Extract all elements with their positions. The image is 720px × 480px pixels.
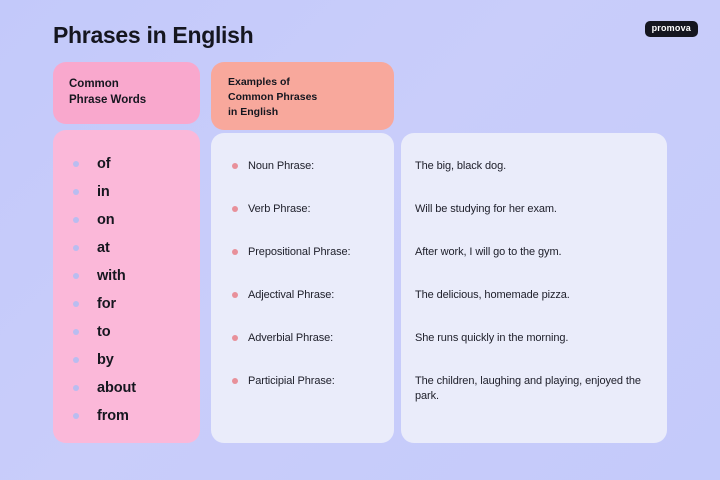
bullet-dot-icon bbox=[73, 245, 79, 251]
list-item: from bbox=[53, 402, 200, 430]
phrase-word-label: with bbox=[97, 268, 126, 284]
phrase-example-text: She runs quickly in the morning. bbox=[415, 331, 655, 346]
examples-of-common-phrases-header-card: Examples of Common Phrases in English bbox=[211, 62, 394, 130]
phrase-word-label: for bbox=[97, 296, 116, 312]
phrase-types-list-card: Noun Phrase: Verb Phrase: Prepositional … bbox=[211, 133, 394, 443]
phrase-word-label: of bbox=[97, 156, 111, 172]
list-item: with bbox=[53, 262, 200, 290]
phrase-type-label: Adverbial Phrase: bbox=[248, 331, 333, 345]
bullet-dot-icon bbox=[232, 249, 238, 255]
poster-canvas: Phrases in English promova Common Phrase… bbox=[0, 0, 720, 480]
list-item: The delicious, homemade pizza. bbox=[401, 288, 667, 331]
common-phrase-words-list-card: of in on at with for to by bbox=[53, 130, 200, 443]
bullet-dot-icon bbox=[232, 292, 238, 298]
list-item: in bbox=[53, 178, 200, 206]
list-item: on bbox=[53, 206, 200, 234]
bullet-dot-icon bbox=[73, 301, 79, 307]
phrase-type-label: Participial Phrase: bbox=[248, 374, 335, 388]
bullet-dot-icon bbox=[73, 273, 79, 279]
list-item: The children, laughing and playing, enjo… bbox=[401, 374, 667, 417]
phrase-word-label: by bbox=[97, 352, 114, 368]
list-item: Adjectival Phrase: bbox=[211, 288, 394, 331]
phrase-type-label: Verb Phrase: bbox=[248, 202, 310, 216]
phrase-word-label: on bbox=[97, 212, 115, 228]
bullet-dot-icon bbox=[73, 385, 79, 391]
bullet-dot-icon bbox=[73, 217, 79, 223]
bullet-dot-icon bbox=[73, 189, 79, 195]
phrase-word-label: to bbox=[97, 324, 111, 340]
phrase-type-label: Adjectival Phrase: bbox=[248, 288, 334, 302]
list-item: She runs quickly in the morning. bbox=[401, 331, 667, 374]
list-item: to bbox=[53, 318, 200, 346]
list-item: at bbox=[53, 234, 200, 262]
list-item: Noun Phrase: bbox=[211, 159, 394, 202]
list-item: Will be studying for her exam. bbox=[401, 202, 667, 245]
list-item: Verb Phrase: bbox=[211, 202, 394, 245]
bullet-dot-icon bbox=[232, 163, 238, 169]
phrase-type-label: Noun Phrase: bbox=[248, 159, 314, 173]
bullet-dot-icon bbox=[73, 329, 79, 335]
bullet-dot-icon bbox=[73, 413, 79, 419]
bullet-dot-icon bbox=[232, 378, 238, 384]
list-item: for bbox=[53, 290, 200, 318]
phrase-example-text: The big, black dog. bbox=[415, 159, 655, 174]
list-item: of bbox=[53, 150, 200, 178]
bullet-dot-icon bbox=[73, 357, 79, 363]
examples-of-common-phrases-heading: Examples of Common Phrases in English bbox=[228, 75, 394, 121]
bullet-dot-icon bbox=[73, 161, 79, 167]
list-item: about bbox=[53, 374, 200, 402]
phrase-example-text: The delicious, homemade pizza. bbox=[415, 288, 655, 303]
list-item: Adverbial Phrase: bbox=[211, 331, 394, 374]
page-title: Phrases in English bbox=[53, 22, 253, 49]
phrase-word-label: about bbox=[97, 380, 136, 396]
phrase-examples-card: The big, black dog. Will be studying for… bbox=[401, 133, 667, 443]
list-item: by bbox=[53, 346, 200, 374]
list-item: The big, black dog. bbox=[401, 159, 667, 202]
list-item: Participial Phrase: bbox=[211, 374, 394, 417]
promova-logo: promova bbox=[645, 21, 698, 37]
phrase-type-label: Prepositional Phrase: bbox=[248, 245, 350, 259]
phrase-word-label: at bbox=[97, 240, 110, 256]
phrase-example-text: Will be studying for her exam. bbox=[415, 202, 655, 217]
bullet-dot-icon bbox=[232, 206, 238, 212]
phrase-word-label: in bbox=[97, 184, 110, 200]
common-phrase-words-heading: Common Phrase Words bbox=[69, 76, 200, 109]
phrase-word-label: from bbox=[97, 408, 129, 424]
list-item: After work, I will go to the gym. bbox=[401, 245, 667, 288]
common-phrase-words-header-card: Common Phrase Words bbox=[53, 62, 200, 124]
phrase-example-text: After work, I will go to the gym. bbox=[415, 245, 655, 260]
bullet-dot-icon bbox=[232, 335, 238, 341]
phrase-example-text: The children, laughing and playing, enjo… bbox=[415, 374, 655, 404]
list-item: Prepositional Phrase: bbox=[211, 245, 394, 288]
